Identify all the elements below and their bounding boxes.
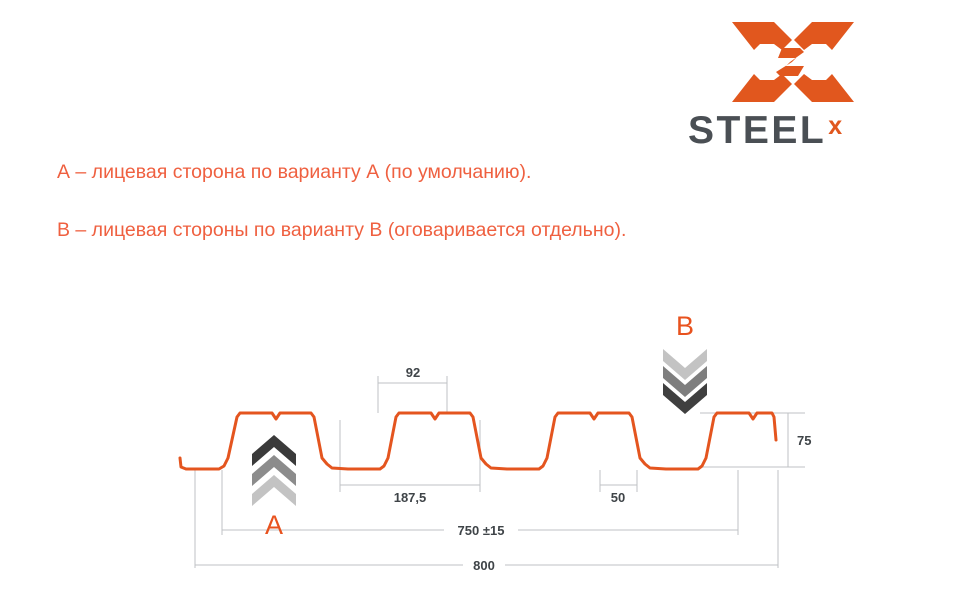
marker-b-label: В [676, 311, 694, 341]
wordmark-superscript-x: x [828, 114, 842, 139]
marker-b: В [663, 311, 707, 414]
brand-wordmark: STEEL x [688, 110, 900, 150]
dimension-labels: 92 187,5 50 75 750 ±15 800 [378, 364, 820, 574]
dim-label-92: 92 [406, 365, 420, 380]
legend-line-variant-a: А – лицевая сторона по варианту А (по ум… [57, 161, 531, 184]
dim-label-187-5: 187,5 [394, 490, 427, 505]
profile-drawing: 92 187,5 50 75 750 ±15 800 [0, 280, 970, 597]
legend-line-variant-b: В – лицевая стороны по варианту В (огова… [57, 219, 626, 242]
marker-a-chevrons-icon [252, 435, 296, 506]
marker-b-chevrons-icon [663, 349, 707, 414]
drawing-page: STEEL x А – лицевая сторона по варианту … [0, 0, 970, 597]
steelx-x-logo-icon [730, 18, 856, 106]
dim-label-50: 50 [611, 490, 625, 505]
dim-label-750: 750 ±15 [458, 523, 505, 538]
marker-a-label: А [265, 510, 283, 540]
marker-a: А [252, 435, 296, 540]
wordmark-steel: STEEL [688, 111, 826, 150]
brand-logo: STEEL x [688, 18, 900, 146]
dim-label-75: 75 [797, 433, 811, 448]
dim-label-800: 800 [473, 558, 495, 573]
